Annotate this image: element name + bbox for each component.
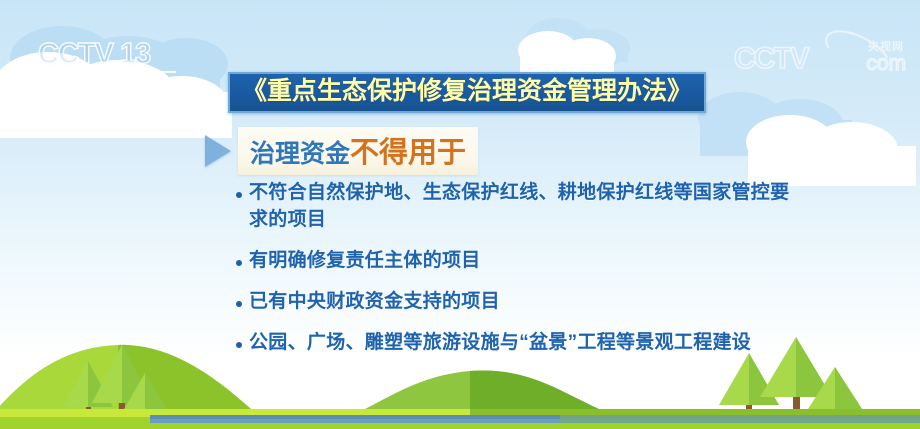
restriction-list: 不符合自然保护地、生态保护红线、耕地保护红线等国家管控要求的项目 有明确修复责任… xyxy=(236,180,796,371)
list-item: 已有中央财政资金支持的项目 xyxy=(236,289,796,316)
list-item-text: 有明确修复责任主体的项目 xyxy=(249,248,481,275)
subtitle-text-emphasis: 不得用于 xyxy=(350,129,466,171)
bullet-dot-icon xyxy=(236,260,242,266)
title-banner: 《重点生态保护修复治理资金管理办法》 xyxy=(228,72,706,113)
list-item-text: 公园、广场、雕塑等旅游设施与“盆景”工程等景观工程建设 xyxy=(249,330,751,357)
bullet-dot-icon xyxy=(236,342,242,348)
subtitle-text-primary: 治理资金 xyxy=(250,134,350,170)
list-item: 公园、广场、雕塑等旅游设施与“盆景”工程等景观工程建设 xyxy=(236,330,796,357)
subtitle-row: 治理资金 不得用于 xyxy=(205,127,478,175)
list-item: 有明确修复责任主体的项目 xyxy=(236,248,796,275)
bullet-dot-icon xyxy=(236,301,242,307)
list-item-text: 不符合自然保护地、生态保护红线、耕地保护红线等国家管控要求的项目 xyxy=(249,180,796,234)
page-title: 《重点生态保护修复治理资金管理办法》 xyxy=(242,77,692,106)
subtitle-box: 治理资金 不得用于 xyxy=(238,127,478,175)
cloud-top-right-white xyxy=(746,115,916,186)
bullet-dot-icon xyxy=(236,192,242,198)
list-item: 不符合自然保护地、生态保护红线、耕地保护红线等国家管控要求的项目 xyxy=(236,180,796,234)
broadcast-graphic-screen: CCTV 13 新闻 CCTV 央视网 com xyxy=(0,0,920,429)
list-item-text: 已有中央财政资金支持的项目 xyxy=(249,289,500,316)
grass-foreground xyxy=(0,423,920,429)
triangle-right-icon xyxy=(205,135,231,167)
